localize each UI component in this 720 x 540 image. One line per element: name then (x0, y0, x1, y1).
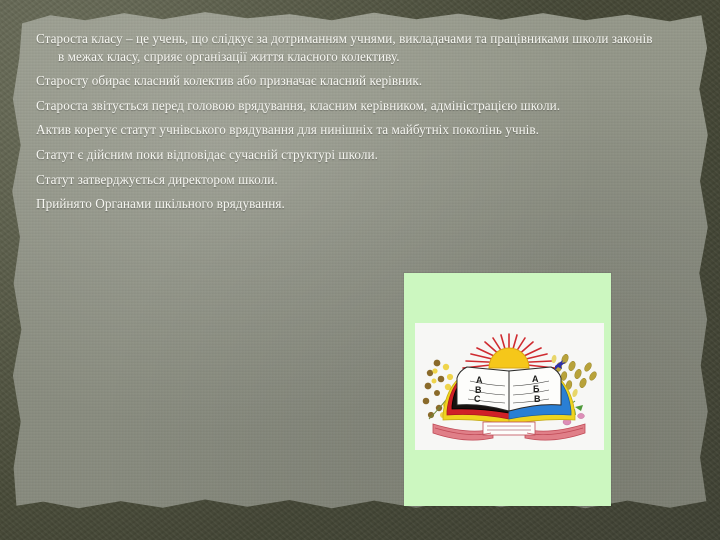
paragraph-3: Староста звітується перед головою врядув… (36, 97, 658, 115)
paragraph-6: Статут затверджується директором школи. (36, 171, 678, 189)
left-page-letter-1: A (476, 375, 483, 385)
left-page-letter-3: C (474, 394, 481, 404)
right-page-letter-2: Б (533, 384, 540, 394)
text-content: Староста класу – це учень, що слідкує за… (36, 30, 684, 220)
ribbon-banner (433, 422, 585, 440)
paragraph-5: Статут є дійсним поки відповідає сучасні… (36, 146, 678, 164)
paragraph-1: Староста класу – це учень, що слідкує за… (36, 30, 658, 65)
right-page-letter-1: А (532, 374, 539, 384)
book-pages: A B C А Б В (457, 367, 561, 411)
emblem-image: A B C А Б В (415, 323, 604, 450)
paragraph-7: Прийнято Органами шкільного врядування. (36, 195, 678, 213)
paragraph-4: Актив корегує статут учнівського врядува… (36, 121, 658, 139)
picture-panel: A B C А Б В (404, 273, 611, 506)
paragraph-2: Старосту обирає класний колектив або при… (36, 72, 678, 90)
slide: Староста класу – це учень, що слідкує за… (0, 0, 720, 540)
right-page-letter-3: В (534, 394, 541, 404)
school-emblem-illustration: A B C А Б В (415, 323, 604, 450)
